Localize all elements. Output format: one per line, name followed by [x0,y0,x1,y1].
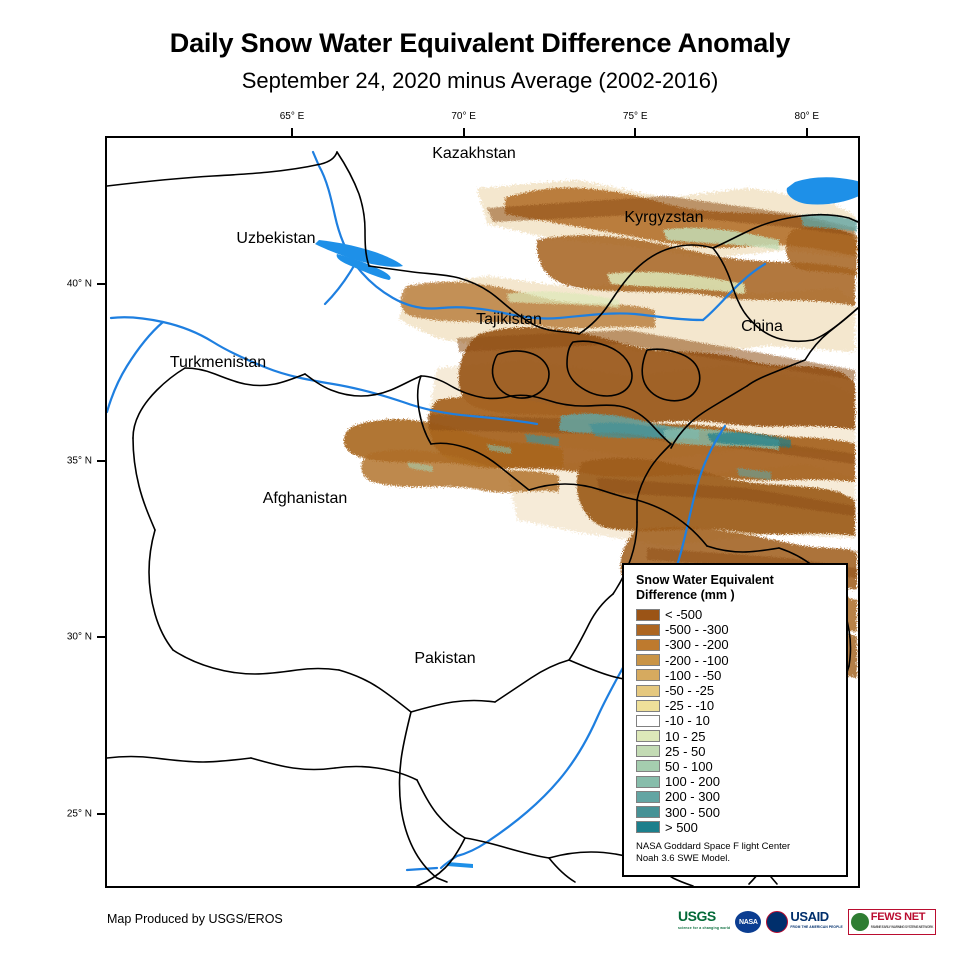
legend-row: > 500 [636,820,837,835]
legend-panel[interactable]: Snow Water Equivalent Difference (mm ) <… [622,563,848,877]
lon-tick-label-70: 70° E [451,111,476,122]
legend-swatch [636,745,660,757]
lat-tick-label-35: 35° N [67,455,92,466]
legend-title: Snow Water Equivalent Difference (mm ) [636,573,837,603]
legend-label: -300 - -200 [665,638,729,651]
legend-label: -200 - -100 [665,654,729,667]
page-subtitle: September 24, 2020 minus Average (2002-2… [0,68,960,94]
lat-tick-35 [97,460,105,462]
legend-credit-line2: Noah 3.6 SWE Model. [636,853,837,865]
legend-row: < -500 [636,607,837,622]
legend-label: 10 - 25 [665,730,705,743]
legend-row: -100 - -50 [636,668,837,683]
legend-label: 200 - 300 [665,790,720,803]
usgs-logo: USGS science for a changing world [678,911,730,933]
legend-swatch [636,654,660,666]
agency-logos: USGS science for a changing world NASA U… [678,908,936,936]
usgs-logo-sub: science for a changing world [678,922,730,934]
legend-row: -200 - -100 [636,653,837,668]
lon-tick-label-80: 80° E [795,111,820,122]
lon-tick-65 [291,128,293,136]
legend-label: -100 - -50 [665,669,721,682]
legend-swatch [636,760,660,772]
legend-label: 100 - 200 [665,775,720,788]
lon-tick-label-75: 75° E [623,111,648,122]
legend-label: -500 - -300 [665,623,729,636]
legend-swatch [636,624,660,636]
legend-credit-line1: NASA Goddard Space F light Center [636,841,837,853]
legend-row: 100 - 200 [636,774,837,789]
legend-row: -10 - 10 [636,713,837,728]
legend-swatch [636,685,660,697]
legend-title-line2: Difference (mm ) [636,588,837,603]
legend-swatch [636,639,660,651]
fews-globe-icon [851,913,869,931]
legend-label: -10 - 10 [665,714,710,727]
legend-label: > 500 [665,821,698,834]
lat-tick-label-40: 40° N [67,279,92,290]
fews-logo-sub: FAMINE EARLY WARNING SYSTEMS NETWORK [871,922,933,932]
nasa-logo: NASA [735,911,761,933]
legend-swatch [636,715,660,727]
lon-tick-70 [463,128,465,136]
legend-swatch [636,821,660,833]
lat-tick-label-30: 30° N [67,632,92,643]
legend-label: 50 - 100 [665,760,713,773]
legend-row: -500 - -300 [636,622,837,637]
legend-row: 50 - 100 [636,759,837,774]
legend-swatch [636,669,660,681]
legend-row: 25 - 50 [636,744,837,759]
legend-label: 25 - 50 [665,745,705,758]
legend-swatch [636,700,660,712]
legend-row: 10 - 25 [636,729,837,744]
legend-swatch [636,776,660,788]
legend-row: -25 - -10 [636,698,837,713]
legend-class-list: < -500-500 - -300-300 - -200-200 - -100-… [636,607,837,835]
nasa-logo-text: NASA [735,911,761,933]
legend-credit: NASA Goddard Space F light Center Noah 3… [636,841,837,865]
legend-title-line1: Snow Water Equivalent [636,573,837,588]
legend-label: -25 - -10 [665,699,714,712]
page-title: Daily Snow Water Equivalent Difference A… [0,28,960,59]
legend-row: -50 - -25 [636,683,837,698]
lat-tick-30 [97,636,105,638]
legend-row: 300 - 500 [636,804,837,819]
legend-row: -300 - -200 [636,637,837,652]
legend-swatch [636,791,660,803]
legend-swatch [636,806,660,818]
lon-tick-75 [634,128,636,136]
usaid-seal-icon [766,911,788,933]
lat-tick-label-25: 25° N [67,808,92,819]
legend-label: < -500 [665,608,702,621]
legend-swatch [636,609,660,621]
legend-swatch [636,730,660,742]
lon-tick-label-65: 65° E [280,111,305,122]
usaid-logo-sub: FROM THE AMERICAN PEOPLE [790,922,842,933]
lat-tick-25 [97,813,105,815]
lat-tick-40 [97,283,105,285]
lon-tick-80 [806,128,808,136]
fews-net-logo: FEWS NET FAMINE EARLY WARNING SYSTEMS NE… [848,909,936,935]
usaid-logo: USAID FROM THE AMERICAN PEOPLE [766,911,842,933]
legend-row: 200 - 300 [636,789,837,804]
legend-label: -50 - -25 [665,684,714,697]
map-producer-credit: Map Produced by USGS/EROS [107,912,283,926]
legend-label: 300 - 500 [665,806,720,819]
